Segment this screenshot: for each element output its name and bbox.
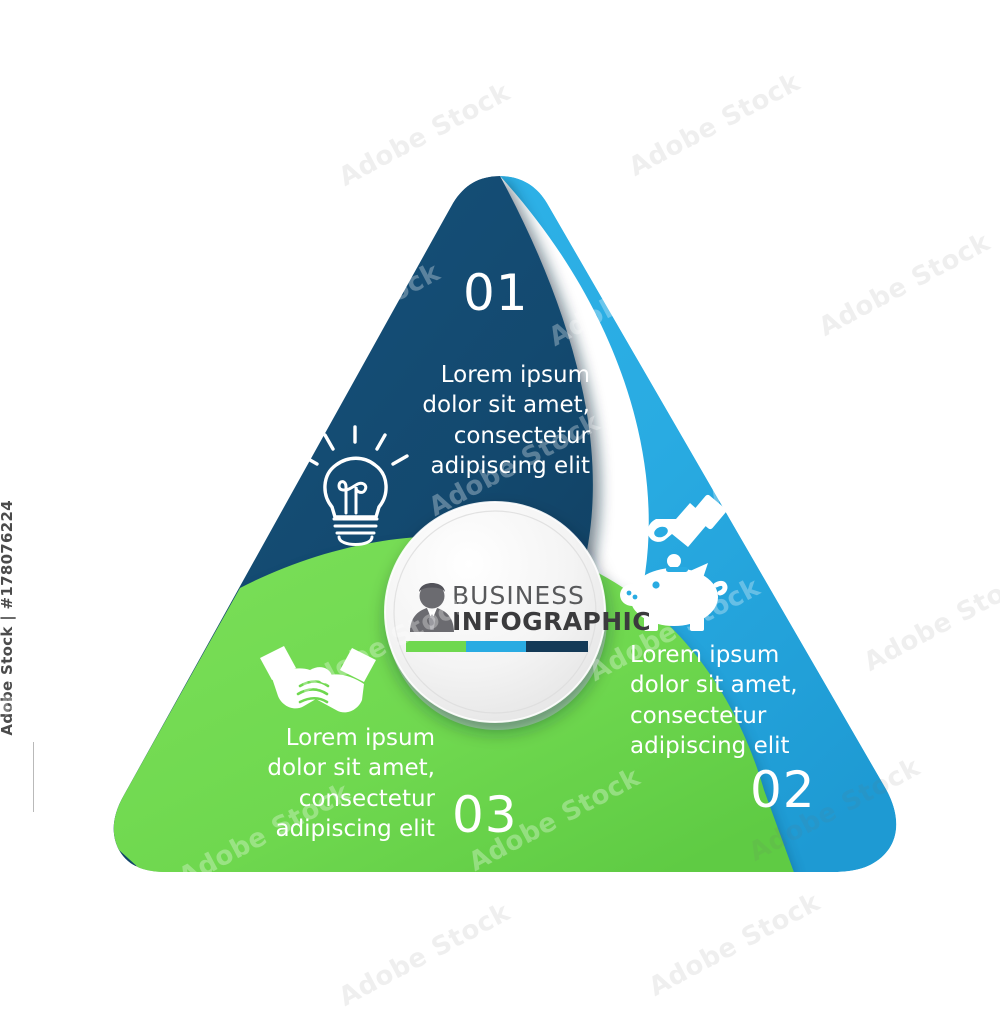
watermark-divider bbox=[33, 742, 34, 812]
segment-02-number: 02 bbox=[750, 765, 816, 815]
infographic-canvas: 01 Lorem ipsum dolor sit amet, consectet… bbox=[0, 0, 1000, 1000]
segment-01-number: 01 bbox=[463, 268, 529, 318]
stock-watermark-label: Adobe Stock | #178076224 bbox=[0, 500, 16, 736]
badge-line-infographic: INFOGRAPHIC bbox=[452, 609, 602, 635]
segment-02-body: Lorem ipsum dolor sit amet, consectetur … bbox=[630, 640, 820, 761]
segment-01-body: Lorem ipsum dolor sit amet, consectetur … bbox=[410, 360, 590, 481]
segment-03-body: Lorem ipsum dolor sit amet, consectetur … bbox=[245, 723, 435, 844]
logo-color-bar bbox=[406, 641, 588, 652]
triangle-infographic-graphic bbox=[0, 0, 1000, 1000]
segment-03-number: 03 bbox=[452, 790, 518, 840]
badge-wordmark: BUSINESS INFOGRAPHIC bbox=[452, 583, 602, 636]
badge-line-business: BUSINESS bbox=[452, 583, 602, 609]
